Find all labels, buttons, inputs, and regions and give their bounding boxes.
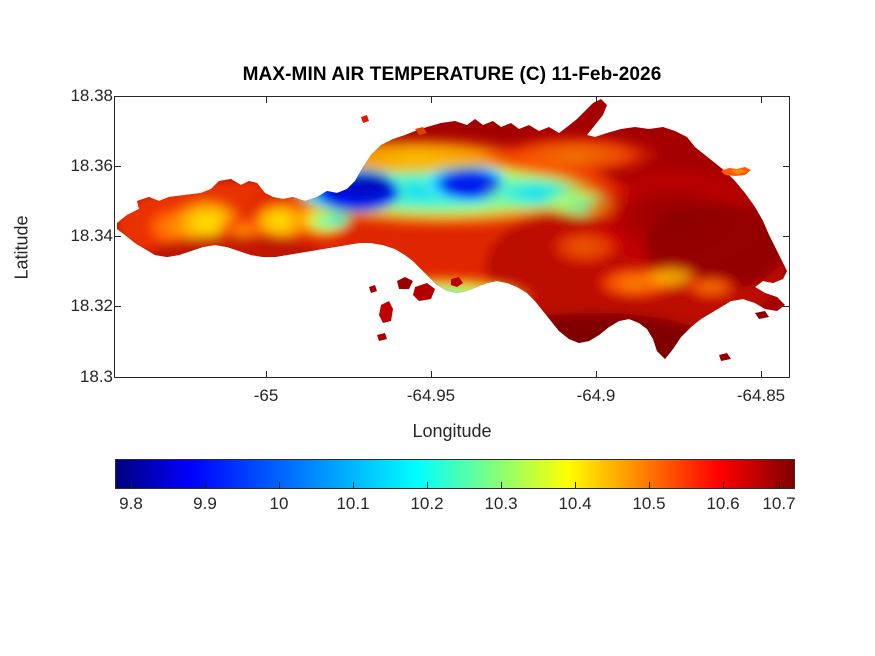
xtick-mark-1 [431,96,432,103]
colorbar-gradient [115,459,795,489]
colorbar-label-1: 9.9 [193,494,217,514]
colorbar-tick-3 [353,482,354,489]
xtick-label-1: -64.95 [407,386,455,406]
colorbar-tick-1 [205,482,206,489]
xtick-label-3: -64.85 [737,386,785,406]
ytick-mark-right-3 [783,306,790,307]
ytick-mark-0 [114,96,121,97]
colorbar-tick-8 [723,482,724,489]
xtick-mark-bottom-0 [266,371,267,378]
colorbar-tick-0 [131,482,132,489]
ytick-label-1: 18.36 [70,156,113,176]
ytick-label-2: 18.34 [70,226,113,246]
ytick-label-3: 18.32 [70,296,113,316]
xtick-label-2: -64.9 [577,386,616,406]
xtick-mark-2 [596,96,597,103]
xtick-label-0: -65 [254,386,279,406]
colorbar-label-4: 10.2 [410,494,443,514]
colorbar-tick-6 [575,482,576,489]
colorbar-tick-5 [501,482,502,489]
colorbar-label-5: 10.3 [484,494,517,514]
xtick-mark-bottom-3 [761,371,762,378]
ytick-mark-2 [114,236,121,237]
temperature-heatmap [115,97,790,378]
ytick-label-4: 18.3 [80,367,113,387]
colorbar [115,459,795,489]
colorbar-tick-9 [779,482,780,489]
xtick-mark-bottom-2 [596,371,597,378]
figure-canvas: MAX-MIN AIR TEMPERATURE (C) 11-Feb-2026 [0,0,875,656]
xtick-mark-0 [266,96,267,103]
colorbar-label-9: 10.7 [762,494,795,514]
colorbar-tick-2 [279,482,280,489]
x-axis-label: Longitude [114,421,790,442]
colorbar-label-0: 9.8 [119,494,143,514]
colorbar-label-2: 10 [270,494,289,514]
ytick-mark-right-0 [783,96,790,97]
ytick-mark-4 [114,377,121,378]
ytick-mark-right-4 [783,377,790,378]
plot-area [114,96,790,378]
colorbar-label-6: 10.4 [558,494,591,514]
xtick-mark-bottom-1 [431,371,432,378]
page-title: MAX-MIN AIR TEMPERATURE (C) 11-Feb-2026 [114,64,790,86]
colorbar-label-3: 10.1 [336,494,369,514]
ytick-mark-right-2 [783,236,790,237]
colorbar-label-8: 10.6 [706,494,739,514]
colorbar-label-7: 10.5 [632,494,665,514]
ytick-label-0: 18.38 [70,86,113,106]
ytick-mark-1 [114,166,121,167]
ytick-mark-right-1 [783,166,790,167]
colorbar-tick-4 [427,482,428,489]
colorbar-tick-7 [649,482,650,489]
y-axis-label: Latitude [12,168,33,328]
ytick-mark-3 [114,306,121,307]
xtick-mark-3 [761,96,762,103]
